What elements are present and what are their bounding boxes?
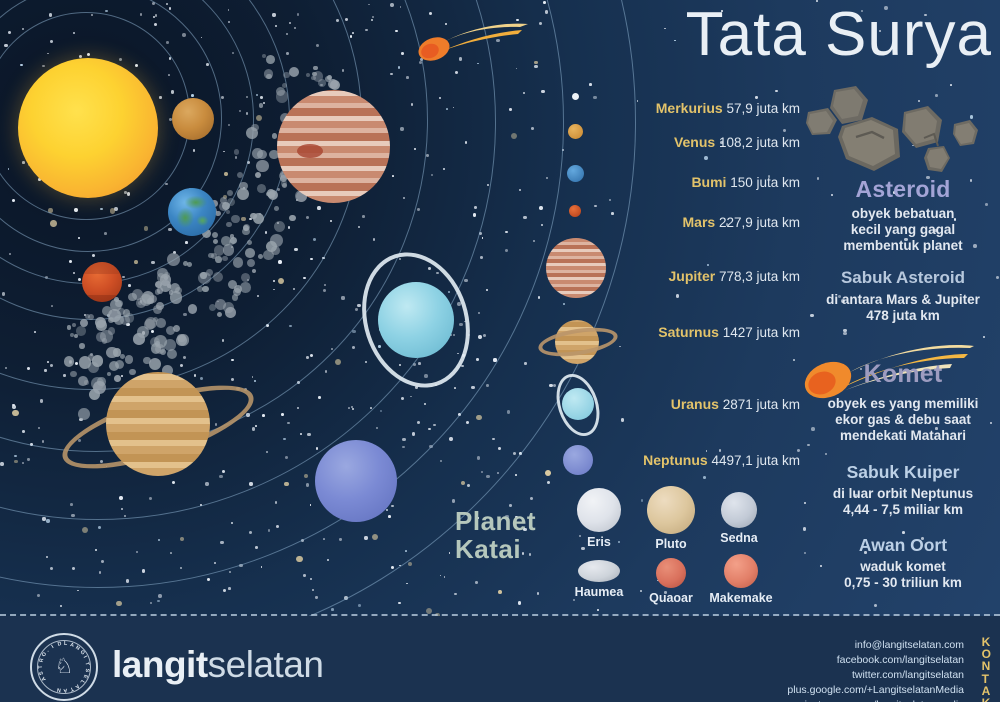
haumea-icon xyxy=(578,560,620,582)
dwarf-title-line2: Katai xyxy=(455,536,575,564)
brand-light: selatan xyxy=(208,644,324,685)
pluto-icon xyxy=(647,486,695,534)
planet-name: Saturnus xyxy=(658,324,719,340)
scene-neptune-icon xyxy=(315,440,397,522)
asteroid-desc-line2: kecil yang gagal xyxy=(806,222,1000,239)
dwarf-title-line1: Planet xyxy=(455,508,575,536)
dwarf-planet-haumea: Haumea xyxy=(562,560,636,599)
scale-earth-icon xyxy=(567,165,584,182)
quaoar-icon xyxy=(656,558,686,588)
dwarf-label: Makemake xyxy=(704,591,778,605)
scale-venus-icon xyxy=(568,124,583,139)
scene-mars-icon xyxy=(82,262,122,302)
dwarf-planet-eris: Eris xyxy=(562,488,636,549)
brand-wordmark: langitselatan xyxy=(112,644,323,686)
right-info-column: Asteroid obyek bebatuan kecil yang gagal… xyxy=(806,0,1000,610)
planet-distance: 227,9 juta km xyxy=(719,215,800,230)
planet-row-merkurius: Merkurius 57,9 juta km xyxy=(656,100,800,116)
planet-distance: 150 juta km xyxy=(730,175,800,190)
asteroid-desc-line1: obyek bebatuan xyxy=(806,206,1000,223)
sabuk-asteroid-line1: di antara Mars & Jupiter xyxy=(806,292,1000,309)
sun-icon xyxy=(18,58,158,198)
scene-mercury-icon xyxy=(102,178,134,210)
dwarf-planet-pluto: Pluto xyxy=(634,486,708,551)
planet-distance: 4497,1 juta km xyxy=(711,453,800,468)
scene-earth-icon xyxy=(168,188,216,236)
planet-name: Uranus xyxy=(671,396,719,412)
scene-venus-icon xyxy=(172,98,214,140)
planet-row-neptunus: Neptunus 4497,1 juta km xyxy=(643,452,800,468)
contact-instagram[interactable]: instagram.com/langitselatanmedia xyxy=(787,698,964,702)
contact-twitter[interactable]: twitter.com/langitselatan xyxy=(787,668,964,683)
dwarf-planets-title: Planet Katai xyxy=(455,508,575,563)
sabuk-kuiper-title: Sabuk Kuiper xyxy=(806,462,1000,483)
eris-icon xyxy=(577,488,621,532)
contact-googleplus[interactable]: plus.google.com/+LangitselatanMedia xyxy=(787,683,964,698)
dwarf-planet-quaoar: Quaoar xyxy=(634,558,708,605)
dwarf-planet-makemake: Makemake xyxy=(704,554,778,605)
planet-row-jupiter: Jupiter 778,3 juta km xyxy=(669,268,801,284)
sabuk-kuiper-line1: di luar orbit Neptunus xyxy=(806,486,1000,503)
logo-horse-glyph: ♘ xyxy=(49,654,79,680)
planet-distance: 57,9 juta km xyxy=(726,101,800,116)
makemake-icon xyxy=(724,554,758,588)
contact-facebook[interactable]: facebook.com/langitselatan xyxy=(787,653,964,668)
planet-row-saturnus: Saturnus 1427 juta km xyxy=(658,324,800,340)
kontak-label: KONTAK xyxy=(982,636,992,702)
asteroid-title: Asteroid xyxy=(806,176,1000,203)
scale-neptune-icon xyxy=(563,445,593,475)
planet-row-bumi: Bumi 150 juta km xyxy=(691,174,800,190)
planet-name: Mars xyxy=(683,214,716,230)
sabuk-asteroid-line2: 478 juta km xyxy=(806,308,1000,325)
scale-mars-icon xyxy=(569,205,581,217)
scale-uranus-ring-icon xyxy=(549,368,607,441)
dwarf-label: Sedna xyxy=(702,531,776,545)
sabuk-asteroid-title: Sabuk Asteroid xyxy=(806,268,1000,288)
scale-jupiter-icon xyxy=(546,238,606,298)
planet-name: Jupiter xyxy=(669,268,716,284)
planet-distance: 1427 juta km xyxy=(723,325,800,340)
awan-oort-line1: waduk komet xyxy=(806,559,1000,576)
komet-title: Komet xyxy=(806,360,1000,389)
scene-saturn-icon xyxy=(106,372,210,476)
dwarf-planet-sedna: Sedna xyxy=(702,492,776,545)
planet-name: Merkurius xyxy=(656,100,723,116)
footer-bar: LANGITSELATAN ASTRO.ID ♘ langitselatan i… xyxy=(0,616,1000,702)
awan-oort-title: Awan Oort xyxy=(806,535,1000,556)
planet-name: Neptunus xyxy=(643,452,708,468)
contact-list: info@langitselatan.com facebook.com/lang… xyxy=(787,638,964,702)
planet-name: Venus xyxy=(674,134,715,150)
asteroid-icon xyxy=(806,82,1000,174)
komet-desc-line3: mendekati Matahari xyxy=(806,428,1000,445)
planet-name: Bumi xyxy=(691,174,726,190)
awan-oort-line2: 0,75 - 30 triliun km xyxy=(806,575,1000,592)
sedna-icon xyxy=(721,492,757,528)
solar-system-infographic: Merkurius 57,9 juta km Venus 108,2 juta … xyxy=(0,0,1000,702)
brand-bold: langit xyxy=(112,644,208,685)
planet-row-mars: Mars 227,9 juta km xyxy=(683,214,801,230)
langitselatan-logo-icon: LANGITSELATAN ASTRO.ID ♘ xyxy=(30,633,98,701)
dwarf-label: Eris xyxy=(562,535,636,549)
planet-row-uranus: Uranus 2871 juta km xyxy=(671,396,800,412)
scene-jupiter-icon xyxy=(277,90,390,203)
komet-desc-line1: obyek es yang memiliki xyxy=(806,396,1000,413)
planet-distance: 778,3 juta km xyxy=(719,269,800,284)
dwarf-label: Haumea xyxy=(562,585,636,599)
sabuk-kuiper-line2: 4,44 - 7,5 miliar km xyxy=(806,502,1000,519)
contact-email[interactable]: info@langitselatan.com xyxy=(787,638,964,653)
dwarf-label: Quaoar xyxy=(634,591,708,605)
scale-mercury-icon xyxy=(572,93,579,100)
komet-desc-line2: ekor gas & debu saat xyxy=(806,412,1000,429)
dwarf-label: Pluto xyxy=(634,537,708,551)
planet-distance: 108,2 juta km xyxy=(719,135,800,150)
planet-row-venus: Venus 108,2 juta km xyxy=(674,134,800,150)
asteroid-desc-line3: membentuk planet xyxy=(806,238,1000,255)
planet-distance: 2871 juta km xyxy=(723,397,800,412)
scene-comet-icon xyxy=(410,18,530,64)
